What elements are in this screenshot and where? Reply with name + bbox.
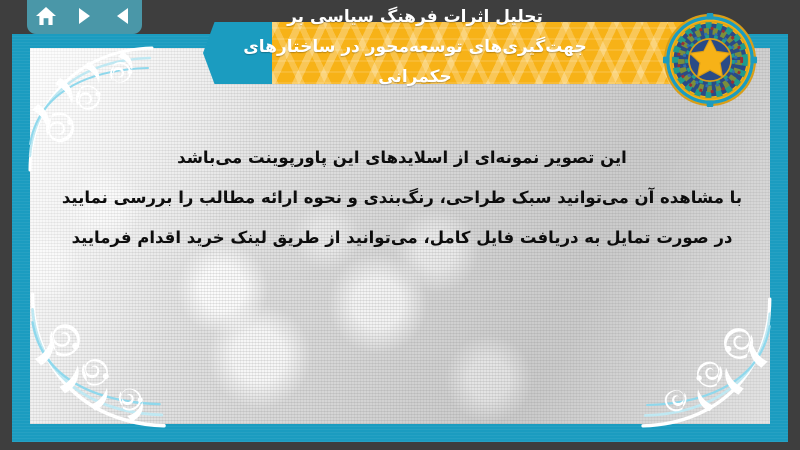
previous-slide-button[interactable]	[109, 3, 137, 29]
slide-body-text: این تصویر نمونه‌ای از اسلایدهای این پاور…	[52, 138, 752, 258]
body-line-3: در صورت تمایل به دریافت فایل کامل، می‌تو…	[52, 218, 752, 258]
title-line-1: تحلیل اثرات فرهنگ سیاسی بر	[150, 2, 680, 32]
body-line-2: با مشاهده آن می‌توانید سبک طراحی، رنگ‌بن…	[52, 178, 752, 218]
home-button[interactable]	[32, 3, 60, 29]
triangle-right-icon	[76, 7, 93, 25]
slide-canvas: این تصویر نمونه‌ای از اسلایدهای این پاور…	[12, 30, 788, 442]
home-icon	[35, 6, 57, 26]
body-line-1: این تصویر نمونه‌ای از اسلایدهای این پاور…	[52, 138, 752, 178]
next-slide-button[interactable]	[71, 3, 99, 29]
triangle-left-icon	[114, 7, 131, 25]
slide-navigation-bar[interactable]	[27, 0, 142, 34]
presentation-viewer: این تصویر نمونه‌ای از اسلایدهای این پاور…	[0, 0, 800, 450]
